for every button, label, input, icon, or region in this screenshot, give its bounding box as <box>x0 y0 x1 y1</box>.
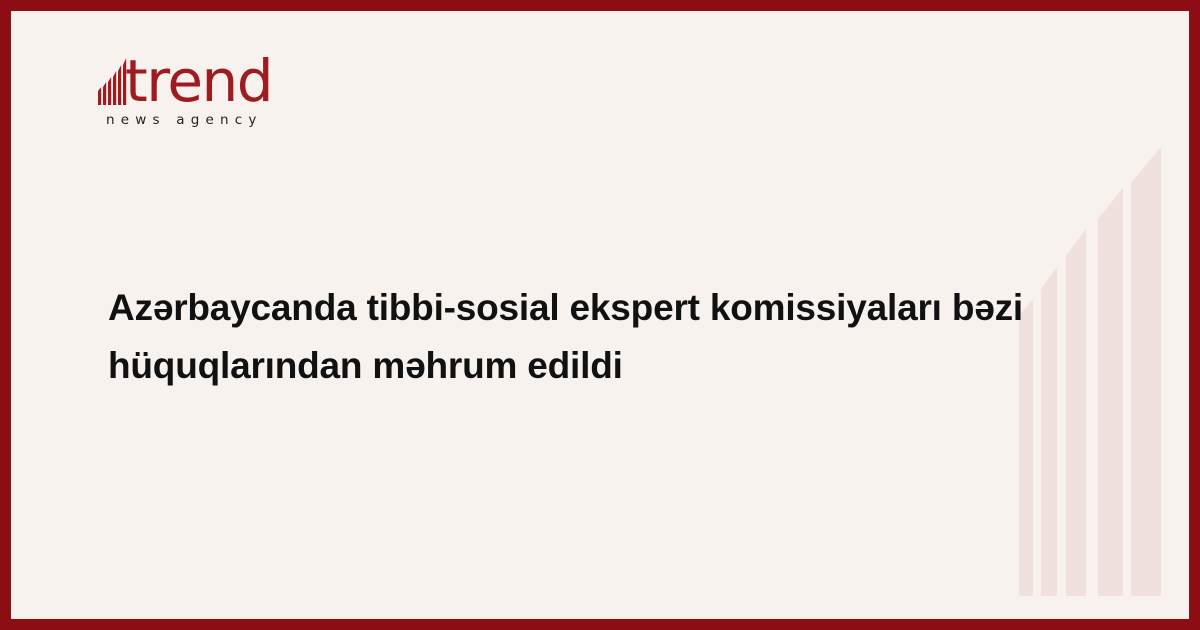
logo-wordmark-row: trend <box>98 47 328 105</box>
logo-wordmark: trend <box>125 57 272 107</box>
card-canvas: trend news agency Azərbaycanda tibbi-sos… <box>11 11 1189 619</box>
article-headline: Azərbaycanda tibbi-sosial ekspert komiss… <box>108 279 1073 395</box>
headline-line-2: hüquqlarından məhrum edildi <box>108 337 1073 395</box>
headline-line-1: Azərbaycanda tibbi-sosial ekspert komiss… <box>108 279 1073 337</box>
rising-bars-icon <box>98 57 128 105</box>
brand-logo[interactable]: trend news agency <box>98 47 328 128</box>
social-share-card: trend news agency Azərbaycanda tibbi-sos… <box>0 0 1200 630</box>
